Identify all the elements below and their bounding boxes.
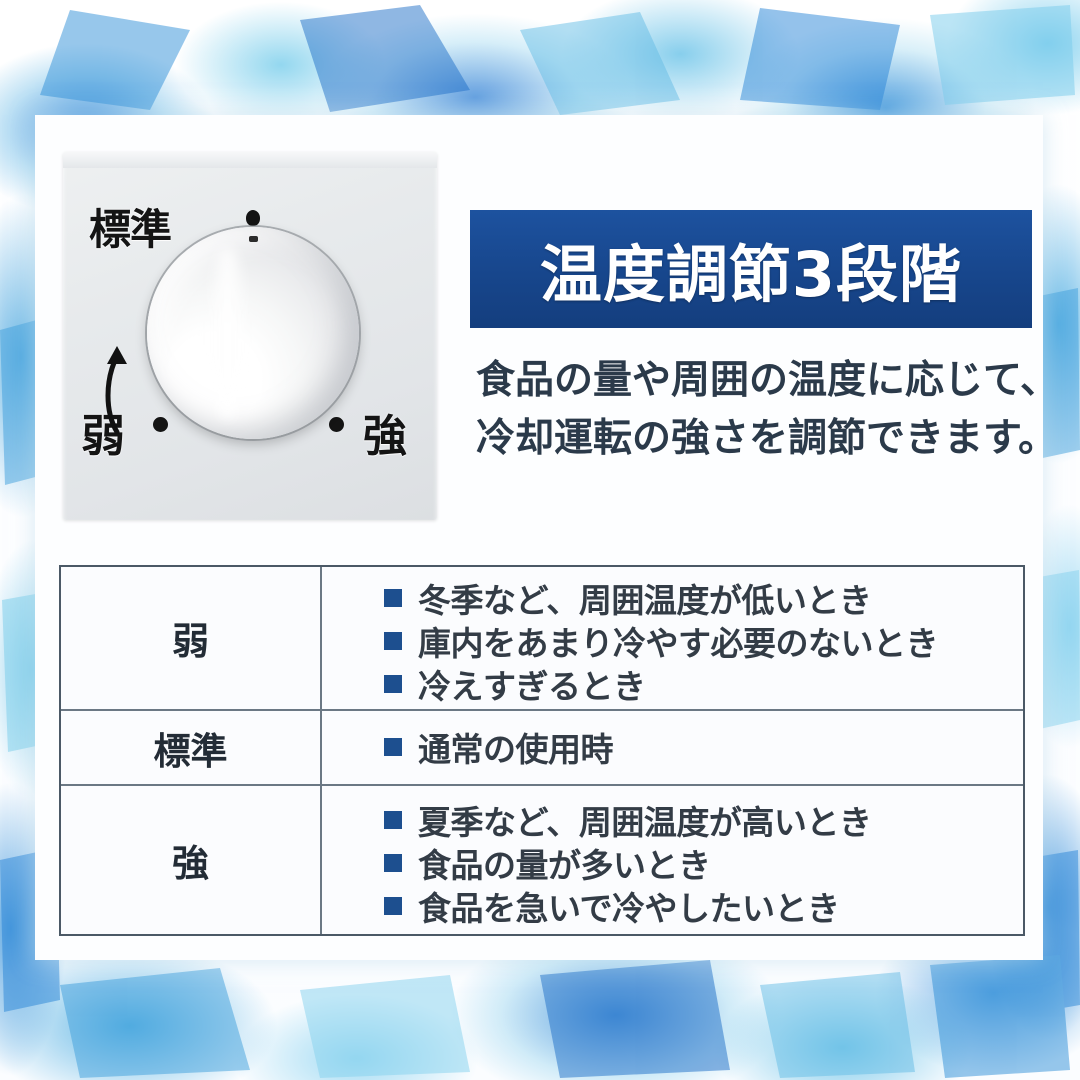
bullet-square-icon: [384, 854, 402, 872]
row-items-standard: 通常の使用時: [322, 711, 1023, 784]
bullet-square-icon: [384, 738, 402, 756]
tick-dot-standard: [246, 210, 260, 226]
list-item: 冷えすぎるとき: [384, 662, 1023, 705]
list-item-label: 食品を急いで冷やしたいとき: [418, 882, 840, 930]
title-banner: 温度調節3段階: [470, 210, 1032, 328]
list-item: 冬季など、周囲温度が低いとき: [384, 576, 1023, 619]
page-title: 温度調節3段階: [540, 224, 962, 314]
list-item-label: 食品の量が多いとき: [418, 839, 711, 887]
list-item: 庫内をあまり冷やす必要のないとき: [384, 619, 1023, 662]
list-item-label: 冬季など、周囲温度が低いとき: [418, 574, 871, 622]
list-item: 夏季など、周囲温度が高いとき: [384, 798, 1023, 841]
list-item-label: 庫内をあまり冷やす必要のないとき: [418, 617, 938, 665]
bullet-square-icon: [384, 897, 402, 915]
list-item: 食品を急いで冷やしたいとき: [384, 884, 1023, 927]
settings-table: 弱 冬季など、周囲温度が低いとき 庫内をあまり冷やす必要のないとき 冷えすぎると…: [59, 565, 1025, 936]
list-item-label: 冷えすぎるとき: [418, 660, 646, 708]
knob-pointer-notch: [249, 236, 258, 242]
row-items-weak: 冬季など、周囲温度が低いとき 庫内をあまり冷やす必要のないとき 冷えすぎるとき: [322, 567, 1023, 709]
table-row: 強 夏季など、周囲温度が高いとき 食品の量が多いとき 食品を急いで冷やしたいとき: [61, 786, 1023, 934]
infographic-stage: 標準 弱 強 温度調節3段階 食品の量や周囲の温度に応じて、 冷却運転の強さを調…: [0, 0, 1080, 1080]
bullet-square-icon: [384, 675, 402, 693]
row-label-strong: 強: [61, 786, 322, 934]
list-item-label: 通常の使用時: [418, 723, 613, 771]
row-label-weak: 弱: [61, 567, 322, 709]
bullet-square-icon: [384, 811, 402, 829]
bullet-square-icon: [384, 632, 402, 650]
temperature-knob[interactable]: [147, 227, 359, 439]
row-label-standard: 標準: [61, 711, 322, 784]
panel-top-strip: [63, 152, 437, 168]
table-row: 弱 冬季など、周囲温度が低いとき 庫内をあまり冷やす必要のないとき 冷えすぎると…: [61, 567, 1023, 711]
description-block: 食品の量や周囲の温度に応じて、 冷却運転の強さを調節できます。: [476, 352, 1042, 467]
list-item: 通常の使用時: [384, 725, 1023, 768]
description-line-1: 食品の量や周囲の温度に応じて、: [476, 352, 1042, 410]
bullet-square-icon: [384, 589, 402, 607]
description-line-2: 冷却運転の強さを調節できます。: [476, 410, 1042, 468]
tick-dot-strong: [329, 417, 344, 432]
knob-highlight: [206, 248, 248, 418]
table-row: 標準 通常の使用時: [61, 711, 1023, 786]
knob-panel: 標準 弱 強: [63, 152, 437, 520]
list-item-label: 夏季など、周囲温度が高いとき: [418, 796, 871, 844]
list-item: 食品の量が多いとき: [384, 841, 1023, 884]
row-items-strong: 夏季など、周囲温度が高いとき 食品の量が多いとき 食品を急いで冷やしたいとき: [322, 786, 1023, 934]
knob-label-standard: 標準: [89, 196, 171, 257]
knob-label-strong: 強: [363, 400, 406, 464]
